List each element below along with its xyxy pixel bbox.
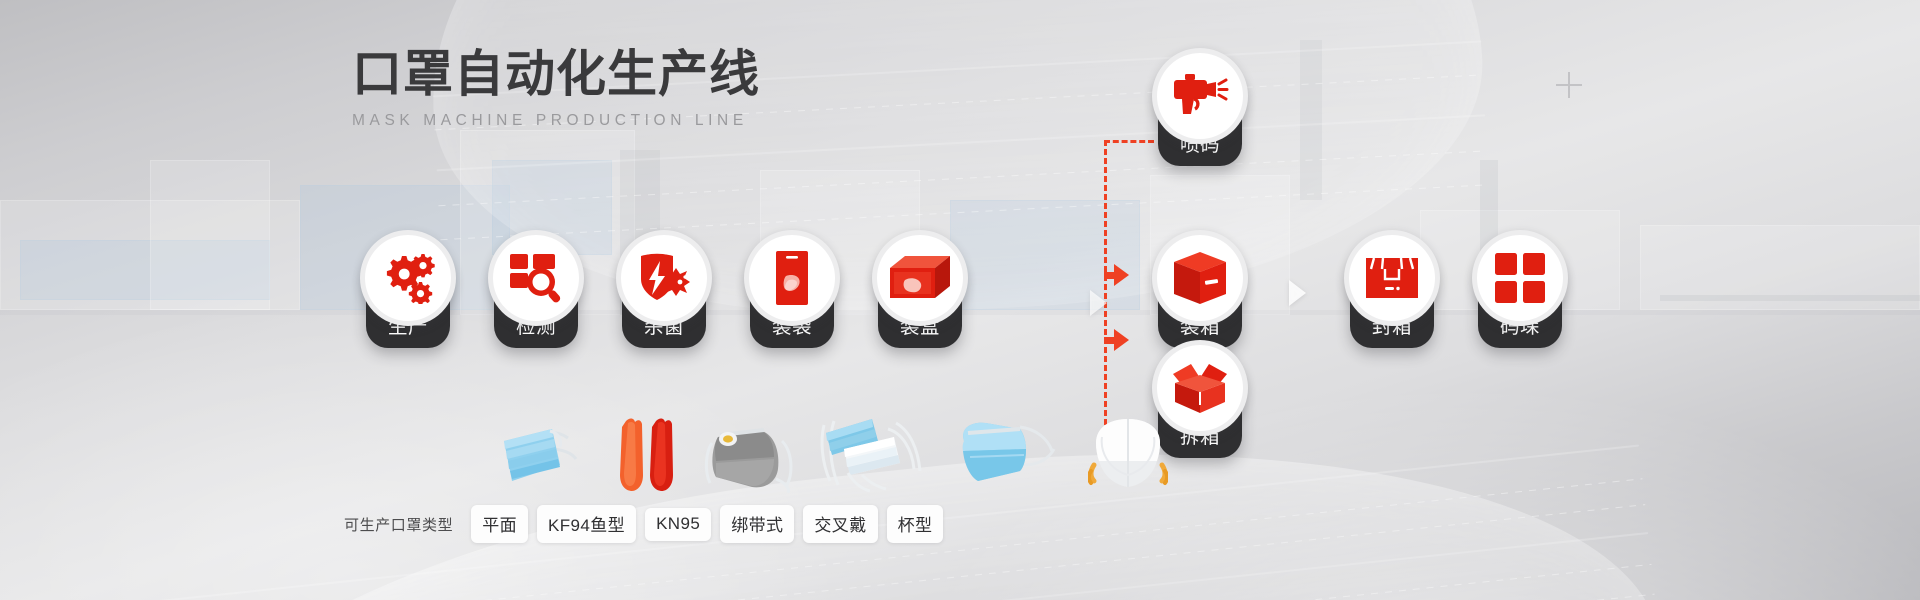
mask-types-bar: 可生产口罩类型 平面 KF94鱼型 KN95 绑带式 交叉戴 杯型 [344,505,952,543]
pipeline-node-inkjet-coding[interactable]: 喷码 [1152,48,1248,166]
flow-chevron [1090,290,1107,316]
banner-stage: 口罩自动化生产线 MASK MACHINE PRODUCTION LINE 生产 [0,0,1920,600]
mask-type-tag-cup[interactable]: 杯型 [887,505,944,543]
conveyor-rail [1660,295,1920,301]
bagging-pouch-icon [744,230,840,326]
branch-connector-to-spray [1104,140,1154,143]
tie-on-mask-photo [818,415,926,498]
pipeline-node-bagging[interactable]: 装袋 [744,230,840,348]
mask-type-tag-tie-on[interactable]: 绑带式 [720,505,794,543]
boxing-carton-icon [872,230,968,326]
pipeline-node-packing[interactable]: 装箱 [1152,230,1248,348]
pipeline-node-sterilization[interactable]: 杀菌 [616,230,712,348]
mask-types-label: 可生产口罩类型 [344,514,453,535]
sealed-box-icon [1344,230,1440,326]
pipeline-node-sealing[interactable]: 封箱 [1344,230,1440,348]
kf94-fish-shape-mask-photo [616,417,676,498]
plus-mark-icon [1556,72,1582,98]
cross-wear-mask-photo [950,417,1058,498]
pipeline-node-inspection[interactable]: 检测 [488,230,584,348]
palletizing-grid-icon [1472,230,1568,326]
mask-type-tag-kf94[interactable]: KF94鱼型 [537,505,636,543]
red-arrow-upper [1104,264,1129,286]
inkjet-spray-gun-icon [1152,48,1248,144]
cup-shape-mask-photo [1088,417,1168,498]
shield-lightning-sterilize-icon [616,230,712,326]
header: 口罩自动化生产线 MASK MACHINE PRODUCTION LINE [352,46,760,130]
closed-crate-icon [1152,230,1248,326]
kn95-valve-mask-photo [694,417,804,498]
flat-surgical-mask-photo [498,419,584,498]
page-subtitle: MASK MACHINE PRODUCTION LINE [352,112,760,130]
pipeline-node-palletizing[interactable]: 码垛 [1472,230,1568,348]
flow-chevron [1289,280,1306,306]
pipeline-node-production[interactable]: 生产 [360,230,456,348]
page-title: 口罩自动化生产线 [352,46,760,103]
mask-type-tag-cross[interactable]: 交叉戴 [803,505,877,543]
magnifier-inspection-icon [488,230,584,326]
gears-icon [360,230,456,326]
red-arrow-lower [1104,329,1129,351]
pipeline-node-cartoning[interactable]: 装盒 [872,230,968,348]
mask-type-tag-kn95[interactable]: KN95 [645,508,711,541]
machine-block [150,160,270,310]
mask-type-tag-flat[interactable]: 平面 [471,505,528,543]
